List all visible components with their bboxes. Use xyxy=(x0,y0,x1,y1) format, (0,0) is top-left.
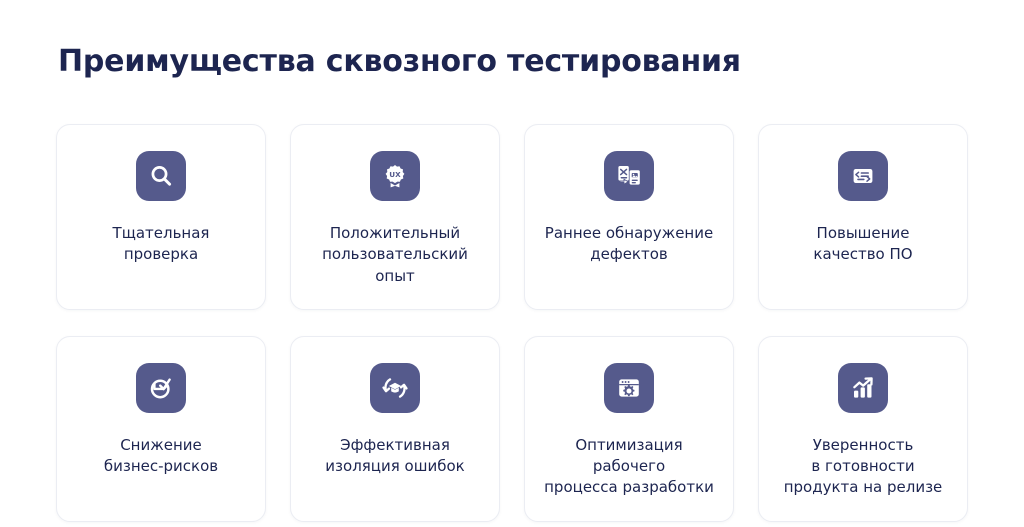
benefit-card-error-isolation[interactable]: Эффективная изоляция ошибок xyxy=(290,336,500,522)
benefit-card-workflow-optimization[interactable]: Оптимизация рабочего процесса разработки xyxy=(524,336,734,522)
svg-text:UX: UX xyxy=(389,170,401,179)
benefit-card-release-confidence[interactable]: Уверенность в готовности продукта на рел… xyxy=(758,336,968,522)
target-down-arrow-icon xyxy=(136,363,186,413)
benefit-card-label: Уверенность в готовности продукта на рел… xyxy=(784,435,943,499)
page-title: Преимущества сквозного тестирования xyxy=(58,44,968,80)
benefits-infographic: Преимущества сквозного тестирования Тщат… xyxy=(0,0,1024,527)
benefits-card-grid: Тщательная проверка UX Положительный пол… xyxy=(56,124,968,522)
benefit-card-label: Тщательная проверка xyxy=(113,223,210,266)
benefit-card-label: Эффективная изоляция ошибок xyxy=(325,435,464,478)
refresh-cycle-icon xyxy=(370,363,420,413)
growth-chart-icon xyxy=(838,363,888,413)
code-document-icon xyxy=(838,151,888,201)
ux-award-badge-icon: UX xyxy=(370,151,420,201)
browser-gear-icon xyxy=(604,363,654,413)
benefit-card-software-quality[interactable]: Повышение качество ПО xyxy=(758,124,968,310)
benefit-card-early-defect-detection[interactable]: Раннее обнаружение дефектов xyxy=(524,124,734,310)
defect-documents-icon xyxy=(604,151,654,201)
benefit-card-label: Положительный пользовательский опыт xyxy=(322,223,468,287)
benefit-card-label: Оптимизация рабочего процесса разработки xyxy=(539,435,719,499)
benefit-card-label: Раннее обнаружение дефектов xyxy=(545,223,713,266)
benefit-card-business-risk-reduction[interactable]: Снижение бизнес-рисков xyxy=(56,336,266,522)
benefit-card-thorough-check[interactable]: Тщательная проверка xyxy=(56,124,266,310)
benefit-card-label: Повышение качество ПО xyxy=(813,223,912,266)
magnifier-icon xyxy=(136,151,186,201)
benefit-card-positive-ux[interactable]: UX Положительный пользовательский опыт xyxy=(290,124,500,310)
benefit-card-label: Снижение бизнес-рисков xyxy=(104,435,218,478)
